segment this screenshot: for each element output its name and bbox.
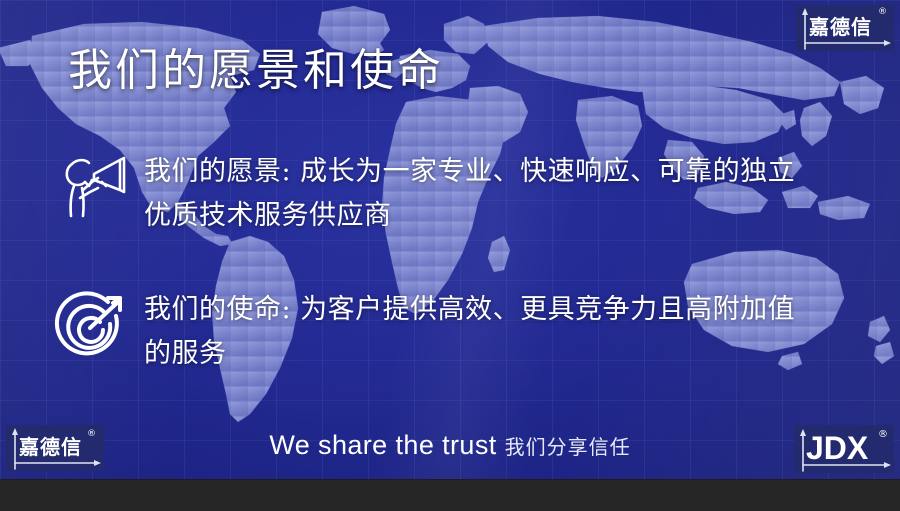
bullet-vision-text: 我们的愿景: 成长为一家专业、快速响应、可靠的独立优质技术服务供应商	[144, 146, 816, 238]
bullet-mission: 我们的使命: 为客户提供高效、更具竞争力且高附加值的服务	[50, 286, 816, 376]
footer-tagline: We share the trust我们分享信任	[0, 430, 900, 461]
logo-jdx-bottom-right: JDX ®	[794, 425, 894, 473]
logo-text: 嘉德信	[19, 433, 82, 461]
presentation-slide: 我们的愿景和使命	[0, 0, 900, 479]
logo-jiadexin-top-right: 嘉德信 ®	[796, 5, 894, 51]
logo-text: 嘉德信	[809, 13, 872, 41]
registered-mark-icon: ®	[87, 429, 96, 439]
tagline-english: We share the trust	[269, 430, 496, 460]
viewer-bottom-band	[0, 479, 900, 511]
logo-jiadexin-bottom-left: 嘉德信 ®	[6, 425, 104, 471]
bullet-vision: 我们的愿景: 成长为一家专业、快速响应、可靠的独立优质技术服务供应商	[58, 146, 816, 238]
megaphone-person-icon	[58, 146, 134, 222]
target-arrow-icon	[50, 286, 132, 368]
slide-title: 我们的愿景和使命	[68, 34, 444, 98]
tagline-chinese: 我们分享信任	[505, 435, 631, 459]
logo-text: JDX	[806, 429, 868, 467]
registered-mark-icon: ®	[878, 429, 888, 440]
bullet-mission-text: 我们的使命: 为客户提供高效、更具竞争力且高附加值的服务	[144, 286, 816, 376]
registered-mark-icon: ®	[878, 7, 887, 17]
slide-root: 我们的愿景和使命	[0, 0, 900, 510]
